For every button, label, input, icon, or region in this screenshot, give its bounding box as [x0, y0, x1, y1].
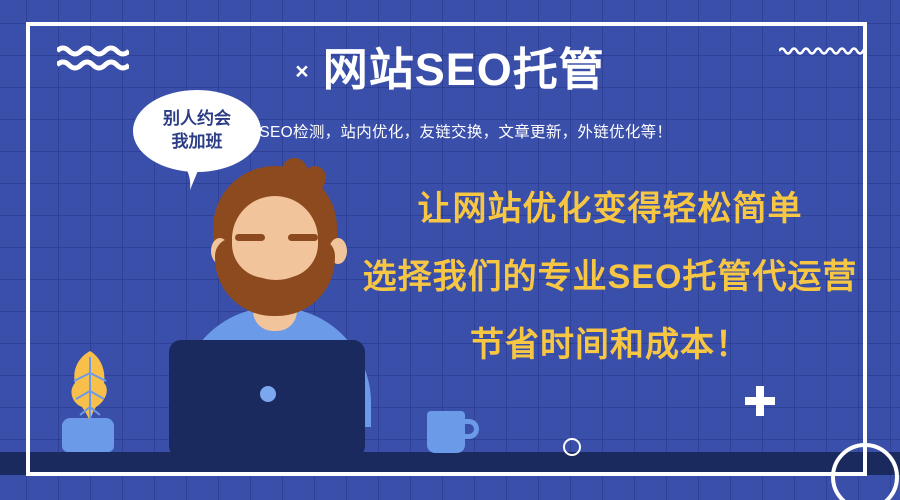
page-title: 网站SEO托管 — [323, 46, 605, 93]
plus-icon — [745, 386, 775, 416]
title-row: × 网站SEO托管 — [0, 46, 900, 93]
headline-line-1: 让网站优化变得轻松简单 — [330, 192, 890, 226]
headline-line-3: 节省时间和成本！ — [330, 328, 890, 362]
headline-line-2: 选择我们的专业SEO托管代运营 — [330, 260, 890, 294]
page-subtitle: 含：SEO检测，站内优化，友链交换，文章更新，外链优化等！ — [0, 120, 900, 142]
seo-promo-poster: 别人约会 我加班 × 网站SEO托管 含：SEO检测，站内优化，友链交换，文章更… — [0, 0, 900, 500]
title-x-mark: × — [295, 60, 308, 83]
circle-outline-icon — [563, 438, 581, 456]
headline-block: 让网站优化变得轻松简单 选择我们的专业SEO托管代运营 节省时间和成本！ — [330, 192, 890, 362]
